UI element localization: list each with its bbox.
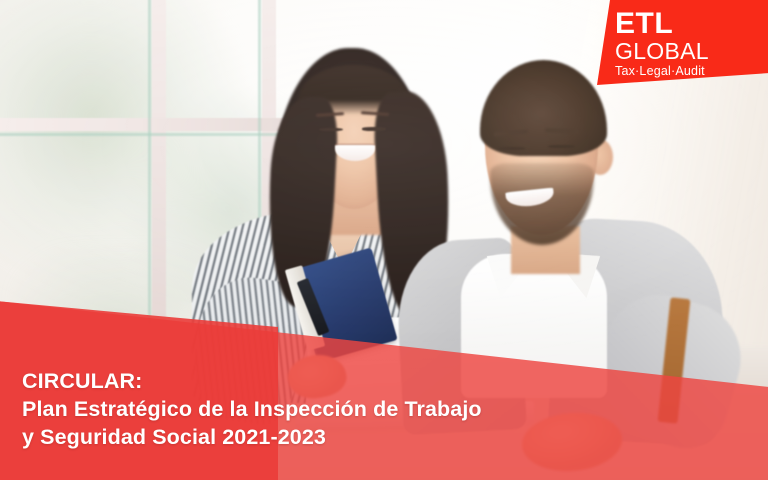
headline-line-1: CIRCULAR: (22, 368, 482, 396)
logo-tagline-text: Tax·Legal·Audit (615, 65, 709, 78)
logo-etl-text: ETL (615, 9, 709, 40)
headline-block: CIRCULAR: Plan Estratégico de la Inspecc… (22, 368, 482, 452)
article-featured-banner: ETL GLOBAL Tax·Legal·Audit CIRCULAR: Pla… (0, 0, 768, 480)
etl-global-logo[interactable]: ETL GLOBAL Tax·Legal·Audit (597, 0, 768, 85)
logo-lockup: ETL GLOBAL Tax·Legal·Audit (615, 9, 709, 78)
headline-line-2: Plan Estratégico de la Inspección de Tra… (22, 396, 482, 424)
headline-line-3: y Seguridad Social 2021-2023 (22, 424, 482, 452)
logo-global-text: GLOBAL (615, 39, 709, 65)
